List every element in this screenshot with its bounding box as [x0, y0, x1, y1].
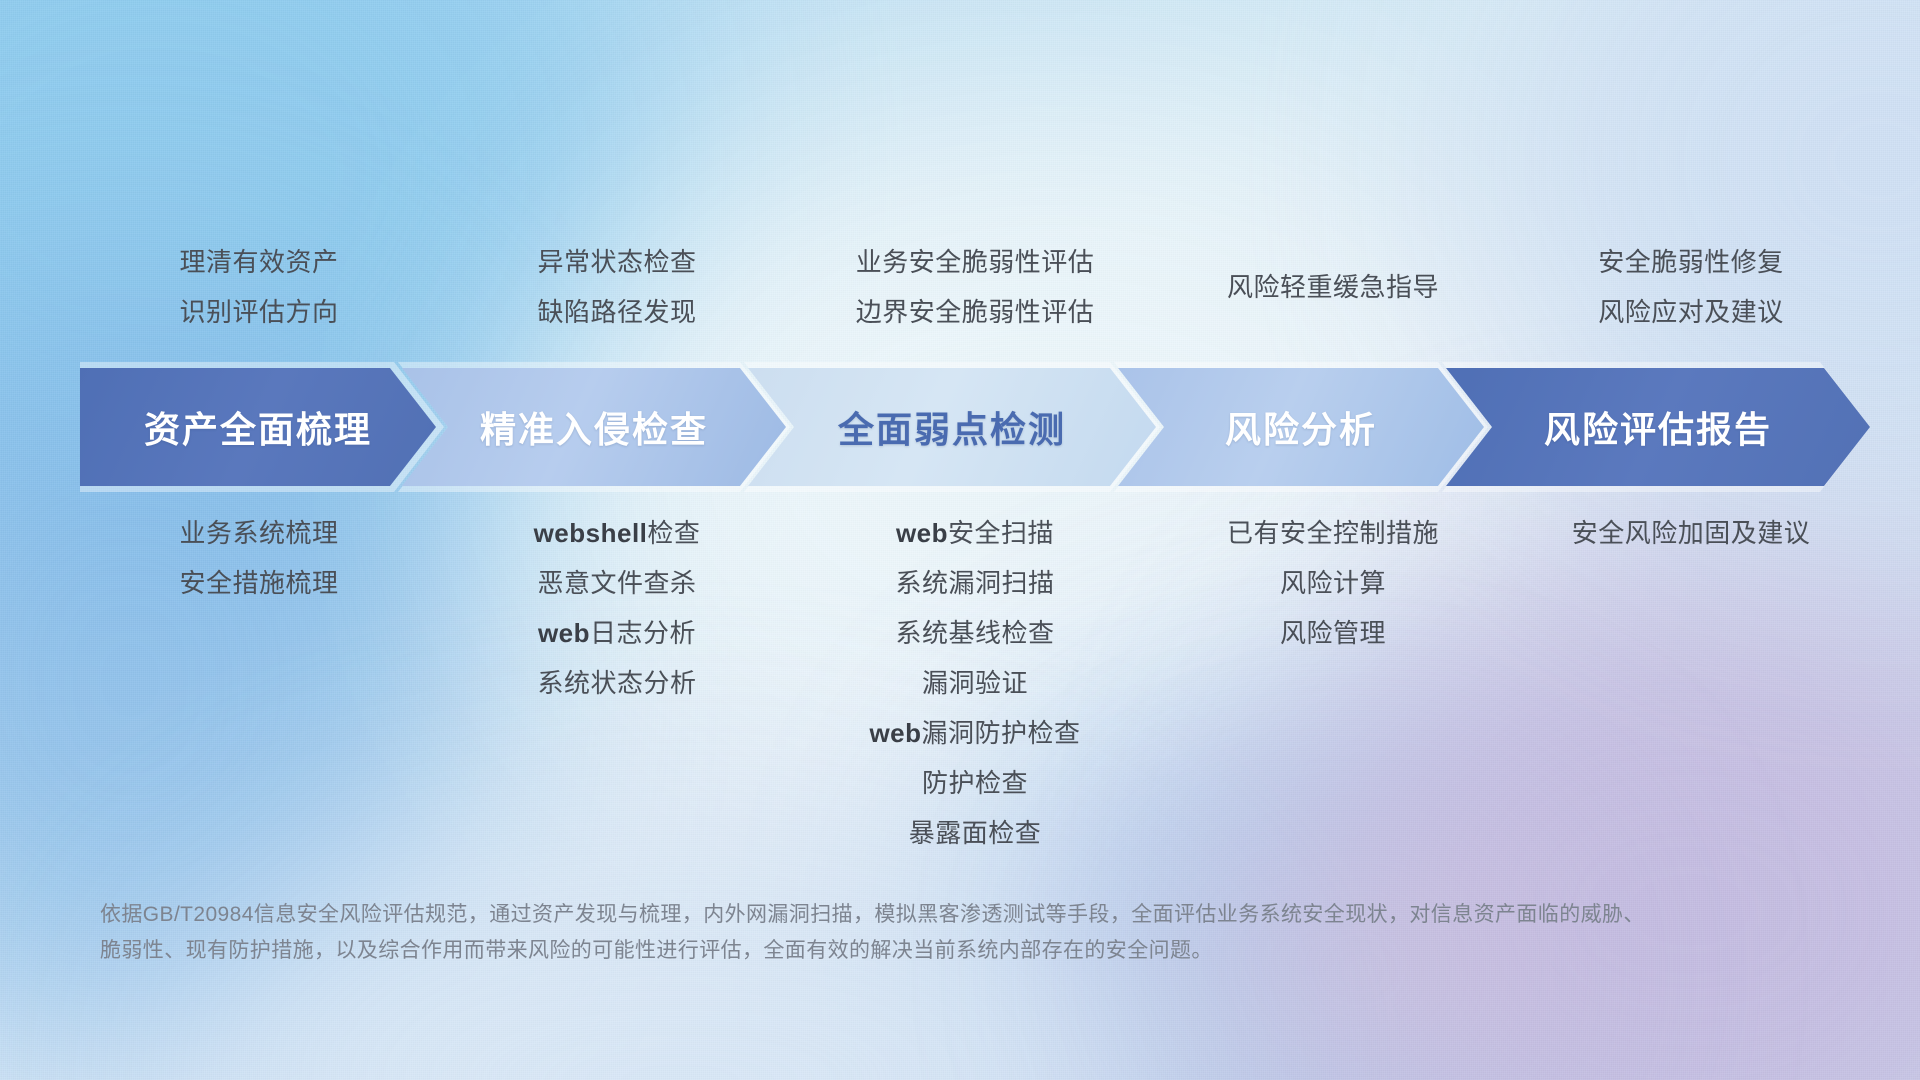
bottom-note: 系统基线检查 — [895, 608, 1054, 658]
bottom-note-latin: webshell — [534, 518, 648, 548]
process-step-label: 精准入侵检查 — [480, 401, 708, 453]
bottom-note: 已有安全控制措施 — [1227, 508, 1439, 558]
top-notes-band: 理清有效资产 识别评估方向 异常状态检查 缺陷路径发现 业务安全脆弱性评估 边界… — [80, 232, 1870, 342]
top-note: 安全脆弱性修复 — [1598, 237, 1784, 287]
bottom-note: 漏洞验证 — [922, 658, 1028, 708]
process-step-label: 风险评估报告 — [1544, 401, 1772, 453]
top-note: 风险应对及建议 — [1598, 287, 1784, 337]
bottom-note-latin: web — [896, 518, 948, 548]
process-step-label: 风险分析 — [1225, 401, 1377, 453]
process-step-assessment-report[interactable]: 风险评估报告 — [1446, 368, 1870, 486]
bottom-note-text: 风险计算 — [1280, 568, 1386, 598]
top-note: 业务安全脆弱性评估 — [856, 237, 1095, 287]
bottom-note: webshell检查 — [534, 508, 701, 558]
bottom-notes-band: 业务系统梳理 安全措施梳理 webshell检查 恶意文件查杀 web日志分析 … — [80, 508, 1870, 848]
bottom-note-text: 暴露面检查 — [909, 818, 1042, 848]
top-notes-column-3: 业务安全脆弱性评估 边界安全脆弱性评估 — [796, 232, 1154, 342]
bottom-notes-column-3: web安全扫描 系统漏洞扫描 系统基线检查 漏洞验证 web漏洞防护检查 防护检… — [796, 508, 1154, 848]
bottom-notes-column-4: 已有安全控制措施 风险计算 风险管理 — [1154, 508, 1512, 848]
bottom-note: 风险计算 — [1280, 558, 1386, 608]
bottom-note-text: 系统状态分析 — [537, 668, 696, 698]
top-notes-column-2: 异常状态检查 缺陷路径发现 — [438, 232, 796, 342]
top-note: 缺陷路径发现 — [537, 287, 696, 337]
top-notes-column-5: 安全脆弱性修复 风险应对及建议 — [1512, 232, 1870, 342]
bottom-note-text: 安全风险加固及建议 — [1572, 518, 1811, 548]
bottom-note-latin: web — [869, 718, 921, 748]
bottom-note-text: 检查 — [647, 518, 700, 548]
bottom-note: 系统状态分析 — [537, 658, 696, 708]
bottom-note-text: 系统漏洞扫描 — [895, 568, 1054, 598]
process-chevron-strip: 资产全面梳理 精准入侵检查 全面弱点检测 风险分析 风险评估报告 — [80, 368, 1870, 486]
top-note: 边界安全脆弱性评估 — [856, 287, 1095, 337]
bottom-note-text: 防护检查 — [922, 768, 1028, 798]
top-note: 风险轻重缓急指导 — [1227, 262, 1439, 312]
bottom-note: 风险管理 — [1280, 608, 1386, 658]
bottom-note: 安全措施梳理 — [179, 558, 338, 608]
bottom-note-text: 系统基线检查 — [895, 618, 1054, 648]
bottom-notes-column-5: 安全风险加固及建议 — [1512, 508, 1870, 848]
top-note: 异常状态检查 — [537, 237, 696, 287]
bottom-note-text: 漏洞防护检查 — [922, 718, 1081, 748]
process-step-weakness-detection[interactable]: 全面弱点检测 — [748, 368, 1156, 486]
bottom-note: 暴露面检查 — [909, 808, 1042, 858]
bottom-note: web安全扫描 — [896, 508, 1054, 558]
bottom-note-text: 安全扫描 — [948, 518, 1054, 548]
bottom-note-text: 安全措施梳理 — [179, 568, 338, 598]
bottom-note-latin: web — [538, 618, 590, 648]
bottom-note: 安全风险加固及建议 — [1572, 508, 1811, 558]
bottom-note-text: 风险管理 — [1280, 618, 1386, 648]
bottom-note: web日志分析 — [538, 608, 696, 658]
top-note: 识别评估方向 — [179, 287, 338, 337]
bottom-note: 业务系统梳理 — [179, 508, 338, 558]
process-step-label: 全面弱点检测 — [838, 401, 1066, 453]
process-step-asset-inventory[interactable]: 资产全面梳理 — [80, 368, 436, 486]
process-step-intrusion-check[interactable]: 精准入侵检查 — [402, 368, 786, 486]
bottom-note-text: 业务系统梳理 — [179, 518, 338, 548]
top-note: 理清有效资产 — [179, 237, 338, 287]
bottom-note-text: 已有安全控制措施 — [1227, 518, 1439, 548]
bottom-note: web漏洞防护检查 — [869, 708, 1080, 758]
bottom-note-text: 恶意文件查杀 — [537, 568, 696, 598]
bottom-note-text: 漏洞验证 — [922, 668, 1028, 698]
bottom-note: 系统漏洞扫描 — [895, 558, 1054, 608]
process-step-label: 资产全面梳理 — [144, 401, 372, 453]
top-notes-column-1: 理清有效资产 识别评估方向 — [80, 232, 438, 342]
bottom-note-text: 日志分析 — [590, 618, 696, 648]
process-step-risk-analysis[interactable]: 风险分析 — [1118, 368, 1484, 486]
bottom-note: 防护检查 — [922, 758, 1028, 808]
bottom-notes-column-2: webshell检查 恶意文件查杀 web日志分析 系统状态分析 — [438, 508, 796, 848]
bottom-note: 恶意文件查杀 — [537, 558, 696, 608]
slide-canvas: 理清有效资产 识别评估方向 异常状态检查 缺陷路径发现 业务安全脆弱性评估 边界… — [0, 0, 1920, 1080]
bottom-notes-column-1: 业务系统梳理 安全措施梳理 — [80, 508, 438, 848]
top-notes-column-4: 风险轻重缓急指导 — [1154, 232, 1512, 342]
footer-description: 依据GB/T20984信息安全风险评估规范，通过资产发现与梳理，内外网漏洞扫描，… — [100, 897, 1660, 969]
